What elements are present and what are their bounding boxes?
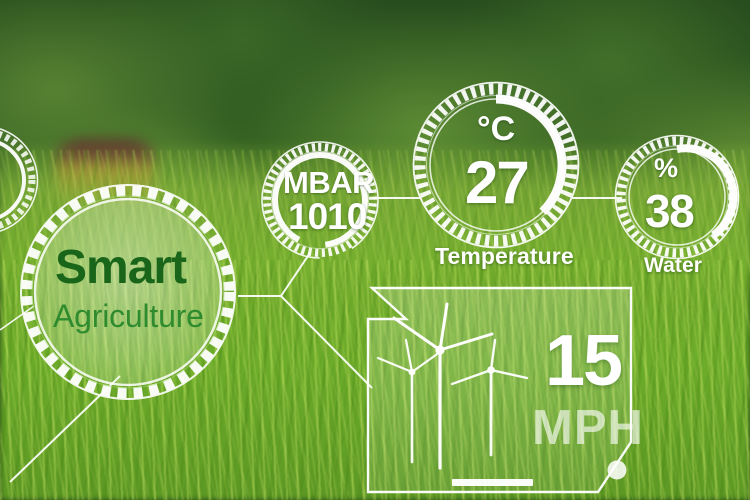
brand-title: Smart bbox=[55, 240, 186, 295]
smart-agriculture-infographic: MBAR 1010 °C 27 Temperature % 38 Water S… bbox=[0, 0, 750, 500]
wind-speed-unit: MPH bbox=[532, 400, 644, 456]
water-gauge-value: 38 bbox=[645, 184, 693, 238]
temperature-gauge-caption: Temperature bbox=[435, 243, 574, 270]
connector-hub-pressure bbox=[281, 253, 310, 296]
water-gauge-unit: % bbox=[654, 153, 678, 184]
wind-panel-bottom-bar bbox=[452, 479, 533, 486]
temperature-gauge-value: 27 bbox=[465, 148, 528, 217]
brand-subtitle: Agriculture bbox=[53, 298, 204, 335]
water-gauge-caption: Water bbox=[644, 254, 702, 278]
wind-speed-value: 15 bbox=[545, 320, 621, 402]
pressure-gauge-value: 1010 bbox=[288, 196, 366, 238]
temperature-gauge-unit: °C bbox=[477, 110, 515, 149]
connector-hub-panel bbox=[281, 296, 372, 388]
offscreen-gauge-partial bbox=[0, 127, 38, 234]
